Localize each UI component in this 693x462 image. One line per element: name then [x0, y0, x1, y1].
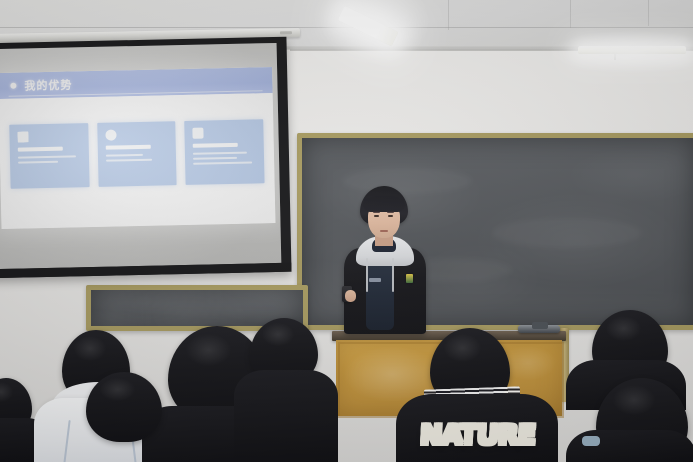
ceiling-seam [570, 0, 571, 28]
slide-card-text-line [193, 161, 252, 164]
projector-screen: 我的优势 独立自主的能力 [0, 37, 292, 279]
ceiling-seam [0, 27, 693, 28]
jacket-badge-icon [406, 274, 413, 283]
chalk-smudge [492, 218, 642, 248]
user-circle-icon [105, 129, 116, 140]
classroom-presentation-photo: 我的优势 独立自主的能力 [0, 0, 693, 462]
presenter-eyebrow [373, 211, 380, 213]
slide-card-text-line [106, 159, 152, 162]
presenter-hand [345, 290, 356, 302]
slide-card-title-bar [193, 143, 238, 148]
fluorescent-tube-icon [578, 46, 686, 54]
projection-surface: 我的优势 独立自主的能力 [0, 43, 281, 269]
slide-card-title-text: 独立自主的能力 [18, 167, 19, 168]
document-square-icon [193, 128, 204, 139]
jacket-back-text: NATURE [419, 420, 536, 451]
slide-body: 独立自主的能力 个人文化课成绩好 [0, 93, 275, 229]
audience-body [234, 370, 338, 462]
presenter-eye [374, 215, 379, 217]
slide-title: 我的优势 [24, 76, 72, 93]
slide-card: 独立自主的能力 [9, 123, 89, 189]
slide-card-title-bar [105, 145, 150, 150]
ceiling-seam [448, 0, 449, 30]
slide-card-text-line [106, 154, 144, 157]
pen-edit-icon [17, 131, 28, 142]
presentation-slide: 我的优势 独立自主的能力 [0, 67, 275, 229]
hoodie-logo [369, 278, 381, 282]
bullet-dot-icon [10, 83, 16, 89]
ceiling-seam [648, 0, 649, 26]
face-mask-icon [582, 436, 600, 446]
standing-presenter [330, 186, 438, 342]
audience-head [86, 372, 162, 442]
slide-card-title-bar [18, 147, 63, 152]
slide-card-title-text: 个人文化课成绩好 [106, 165, 107, 166]
slide-card: 丰富的实践经历 [185, 119, 265, 185]
slide-card-title-text: 丰富的实践经历 [194, 168, 195, 169]
slide-card-text-line [18, 155, 76, 158]
screen-case-end-cap [280, 31, 292, 34]
hoodie-drawstring [366, 258, 368, 292]
presenter-mouth [380, 230, 388, 232]
audience-body [566, 430, 693, 462]
slide-card-text-line [193, 157, 237, 160]
hoodie-drawstring [392, 258, 394, 292]
slide-card-text-line [193, 152, 247, 155]
presenter-hair-fringe [363, 196, 405, 212]
slide-card-text-line [18, 161, 58, 164]
slide-card: 个人文化课成绩好 [97, 121, 177, 187]
presenter-eyebrow [387, 211, 394, 213]
presenter-eye [388, 215, 393, 217]
dark-object-on-desk [532, 322, 548, 329]
